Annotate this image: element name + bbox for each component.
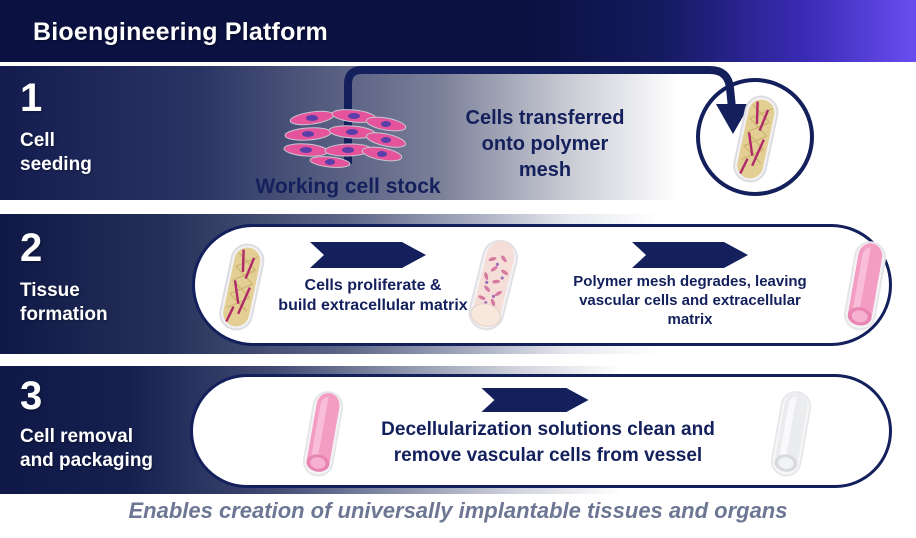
step-3-text-line1: Decellularization solutions clean and: [354, 418, 742, 442]
cellularized-tube-icon: [462, 236, 524, 336]
step-3-label-line2: and packaging: [20, 450, 153, 472]
step-2-label-line2: formation: [20, 304, 108, 326]
acellular-vessel-icon: [764, 388, 820, 480]
step-3-number: 3: [20, 376, 42, 416]
step-2-text-a-line1: Cells proliferate &: [252, 276, 494, 296]
step-2-text-b-line3: matrix: [548, 310, 832, 329]
bioengineering-platform-diagram: Bioengineering Platform 1 Cell seeding: [0, 0, 916, 538]
step-1-number: 1: [20, 78, 42, 118]
polymer-mesh-scaffold-icon: [728, 90, 784, 186]
step-1-label-line1: Cell: [20, 130, 55, 152]
step-2-row: 2 Tissue formation: [0, 214, 916, 354]
pink-vessel-icon: [296, 388, 352, 480]
step-2-label-line1: Tissue: [20, 280, 80, 302]
step-2-text-b-line1: Polymer mesh degrades, leaving: [548, 272, 832, 291]
step-2-text-b-line2: vascular cells and extracellular: [548, 291, 832, 310]
step-2-number: 2: [20, 228, 42, 268]
header-banner: Bioengineering Platform: [0, 0, 916, 62]
step-3-label-line1: Cell removal: [20, 426, 133, 448]
step-2-text-a-line2: build extracellular matrix: [252, 296, 494, 316]
cells-transferred-callout-line1: Cells transferred: [430, 106, 660, 132]
chevron-arrow-icon: [632, 242, 748, 268]
footer-tagline: Enables creation of universally implanta…: [0, 498, 916, 524]
step-3-row: 3 Cell removal and packaging Decellulari…: [0, 366, 916, 494]
page-title: Bioengineering Platform: [33, 18, 328, 47]
step-3-text-line2: remove vascular cells from vessel: [354, 444, 742, 468]
cells-transferred-callout-line3: mesh: [430, 158, 660, 184]
cells-transferred-callout-line2: onto polymer: [430, 132, 660, 158]
chevron-arrow-icon: [310, 242, 426, 268]
step-1-label-line2: seeding: [20, 154, 92, 176]
step-1-row: 1 Cell seeding: [0, 66, 916, 200]
cell-cluster-icon: [282, 102, 410, 174]
pink-vessel-icon: [840, 238, 892, 334]
chevron-arrow-icon: [480, 388, 590, 412]
